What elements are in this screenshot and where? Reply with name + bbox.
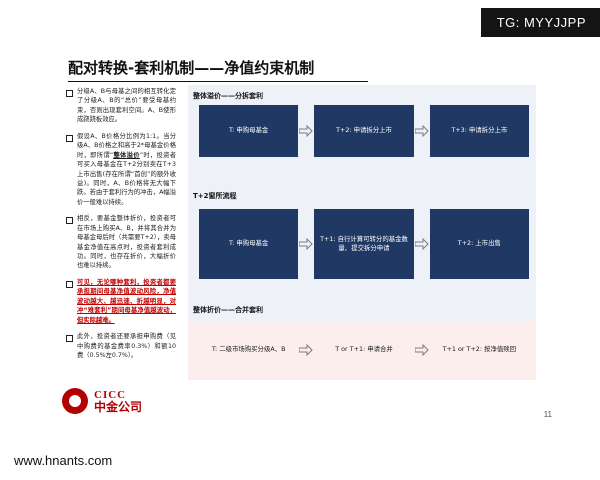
list-item: 此外，投资者还要承担申购费（见中购费的基金费率0.3%）和额10费（0.5%左0… [66,332,176,360]
bullet-square-icon [66,90,73,97]
bullet-square-icon [66,217,73,224]
arrow-right-icon [414,325,430,375]
bullet-text-1: 分级A、B与母基之间的相互转化定了分级A、B的“总价”要受母基约束，否则出现套利… [77,87,176,125]
flow-box: T+2: 上市出售 [430,209,529,279]
arrow-right-icon [298,209,314,279]
bullet-text-4: 可见，无论哪种套利，投资者都要承担期间母基净值波动风险，净值波动越大、越迅速、折… [77,278,176,325]
list-item: 假设A、B价格分比例为1:1。当分级A、B价格之和高于2*母基金价格时，即所谓“… [66,132,176,208]
flow-box: T+1: 自行计算可转分的基金数量、提交拆分申请 [314,209,413,279]
bullet-list: 分级A、B与母基之间的相互转化定了分级A、B的“总价”要受母基约束，否则出现套利… [66,87,176,367]
arrow-right-icon [298,105,314,157]
flow-row-merge: T: 二级市场购买分级A、BT or T+1: 申请合并T+1 or T+2: … [199,325,529,375]
section-label-t2: T+2窗所流程 [193,191,237,201]
slide-canvas: 配对转换-套利机制——净值约束机制 分级A、B与母基之间的相互转化定了分级A、B… [0,43,600,428]
logo-en: CICC [94,389,142,401]
list-item: 可见，无论哪种套利，投资者都要承担期间母基净值波动风险，净值波动越大、越迅速、折… [66,278,176,325]
title-underline [68,81,368,82]
bullet-text-3: 相反，要基金整体折价，投资者可在市场上购买A、B，并将其合并为母基金母后时（共需… [77,214,176,271]
arrow-right-icon [414,209,430,279]
flow-row-t2: T: 申购母基金T+1: 自行计算可转分的基金数量、提交拆分申请T+2: 上市出… [199,209,529,279]
page-number: 11 [544,410,552,419]
flow-row-split: T: 申购母基金T+2: 申请拆分上市T+3: 申请拆分上市 [199,105,529,157]
bullet-square-icon [66,335,73,342]
bullet-square-icon [66,135,73,142]
flow-box: T or T+1: 申请合并 [314,325,413,375]
arrow-right-icon [414,105,430,157]
logo-cn: 中金公司 [94,401,142,414]
bullet-text-2: 假设A、B价格分比例为1:1。当分级A、B价格之和高于2*母基金价格时，即所谓“… [77,132,176,208]
cicc-logo: CICC 中金公司 [62,388,142,414]
flow-box: T+2: 申请拆分上市 [314,105,413,157]
arrow-right-icon [298,325,314,375]
flow-box: T+1 or T+2: 按净值赎回 [430,325,529,375]
bullet-text-5: 此外，投资者还要承担申购费（见中购费的基金费率0.3%）和额10费（0.5%左0… [77,332,176,360]
bullet-square-icon [66,281,73,288]
section-label-split: 整体溢价——分拆套利 [193,91,263,101]
list-item: 相反，要基金整体折价，投资者可在市场上购买A、B，并将其合并为母基金母后时（共需… [66,214,176,271]
list-item: 分级A、B与母基之间的相互转化定了分级A、B的“总价”要受母基约束，否则出现套利… [66,87,176,125]
cicc-mark-icon [62,388,88,414]
tg-tag: TG: MYYJJPP [481,8,600,37]
flow-box: T: 申购母基金 [199,209,298,279]
flow-box: T: 申购母基金 [199,105,298,157]
watermark-label: www.hnants.com [0,447,130,474]
flow-box: T+3: 申请拆分上市 [430,105,529,157]
flow-box: T: 二级市场购买分级A、B [199,325,298,375]
page-title: 配对转换-套利机制——净值约束机制 [68,57,314,78]
section-label-merge: 整体折价——合并套利 [193,305,263,315]
